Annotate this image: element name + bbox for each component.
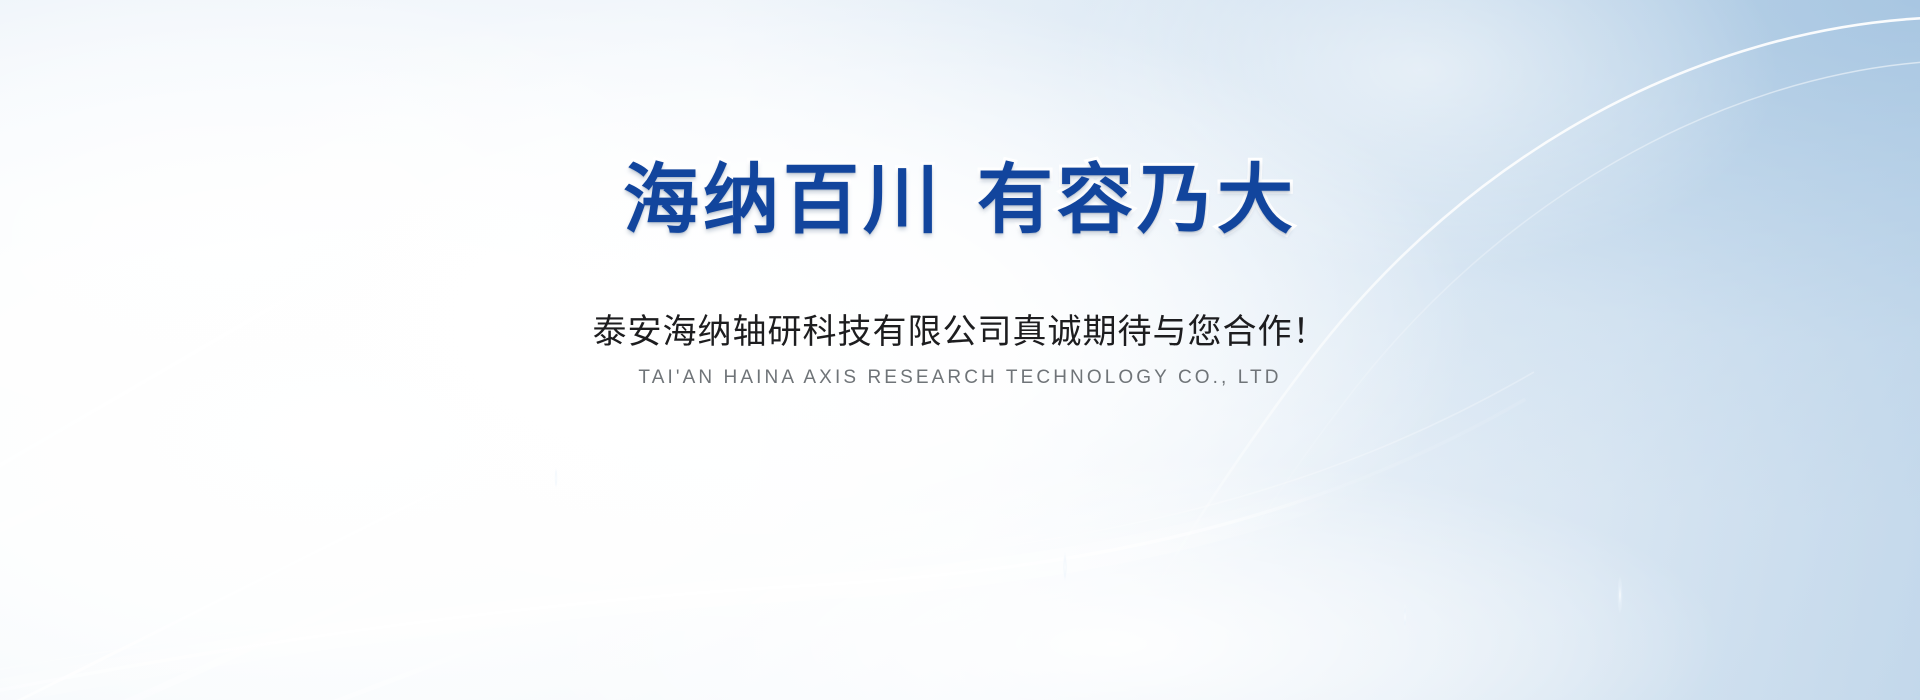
hero-banner: 海纳百川有容乃大 泰安海纳轴研科技有限公司真诚期待与您合作！ TAI'AN HA… [0,0,1920,700]
banner-content: 海纳百川有容乃大 泰安海纳轴研科技有限公司真诚期待与您合作！ TAI'AN HA… [0,0,1920,700]
headline-part-1: 海纳百川 [623,158,943,243]
banner-subtitle-cn: 泰安海纳轴研科技有限公司真诚期待与您合作！ [593,312,1328,353]
headline-part-2: 有容乃大 [977,158,1297,243]
banner-subtitle-en: TAI'AN HAINA AXIS RESEARCH TECHNOLOGY CO… [638,367,1281,390]
banner-headline: 海纳百川有容乃大 [623,160,1297,242]
